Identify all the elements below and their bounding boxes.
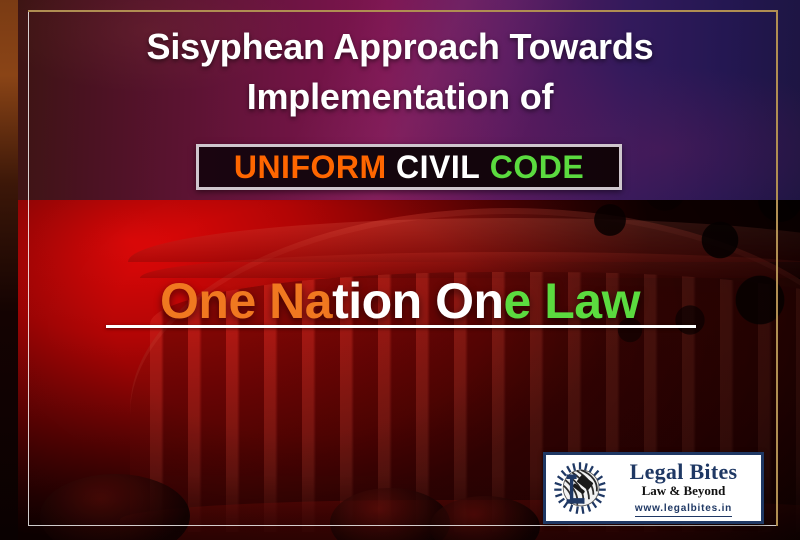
uniform-civil-code-text: UNIFORM CIVIL CODE <box>234 151 584 183</box>
logo-subtitle: Law & Beyond <box>612 483 755 498</box>
legal-bites-logo[interactable]: Legal Bites Law & Beyond www.legalbites.… <box>543 452 764 524</box>
logo-title: Legal Bites <box>612 460 755 483</box>
boxed-word-civil: CIVIL <box>396 149 480 185</box>
tagline: One Nation One Law <box>0 272 800 330</box>
tagline-part-3: e Law <box>504 273 640 329</box>
tagline-part-2: tion On <box>332 273 503 329</box>
poster-canvas: Sisyphean Approach Towards Implementatio… <box>0 0 800 540</box>
page-title: Sisyphean Approach Towards Implementatio… <box>0 22 800 122</box>
boxed-word-uniform: UNIFORM <box>234 149 387 185</box>
legal-bites-wordmark: Legal Bites Law & Beyond www.legalbites.… <box>608 460 755 517</box>
tagline-underline <box>106 325 696 328</box>
boxed-word-code: CODE <box>490 149 584 185</box>
headline-line-2: Implementation of <box>0 72 800 122</box>
legal-bites-gavel-emblem-icon <box>552 460 608 516</box>
logo-url[interactable]: www.legalbites.in <box>635 502 732 517</box>
headline-line-1: Sisyphean Approach Towards <box>147 26 654 67</box>
uniform-civil-code-box: UNIFORM CIVIL CODE <box>196 144 622 190</box>
tagline-part-1: One Na <box>160 273 332 329</box>
